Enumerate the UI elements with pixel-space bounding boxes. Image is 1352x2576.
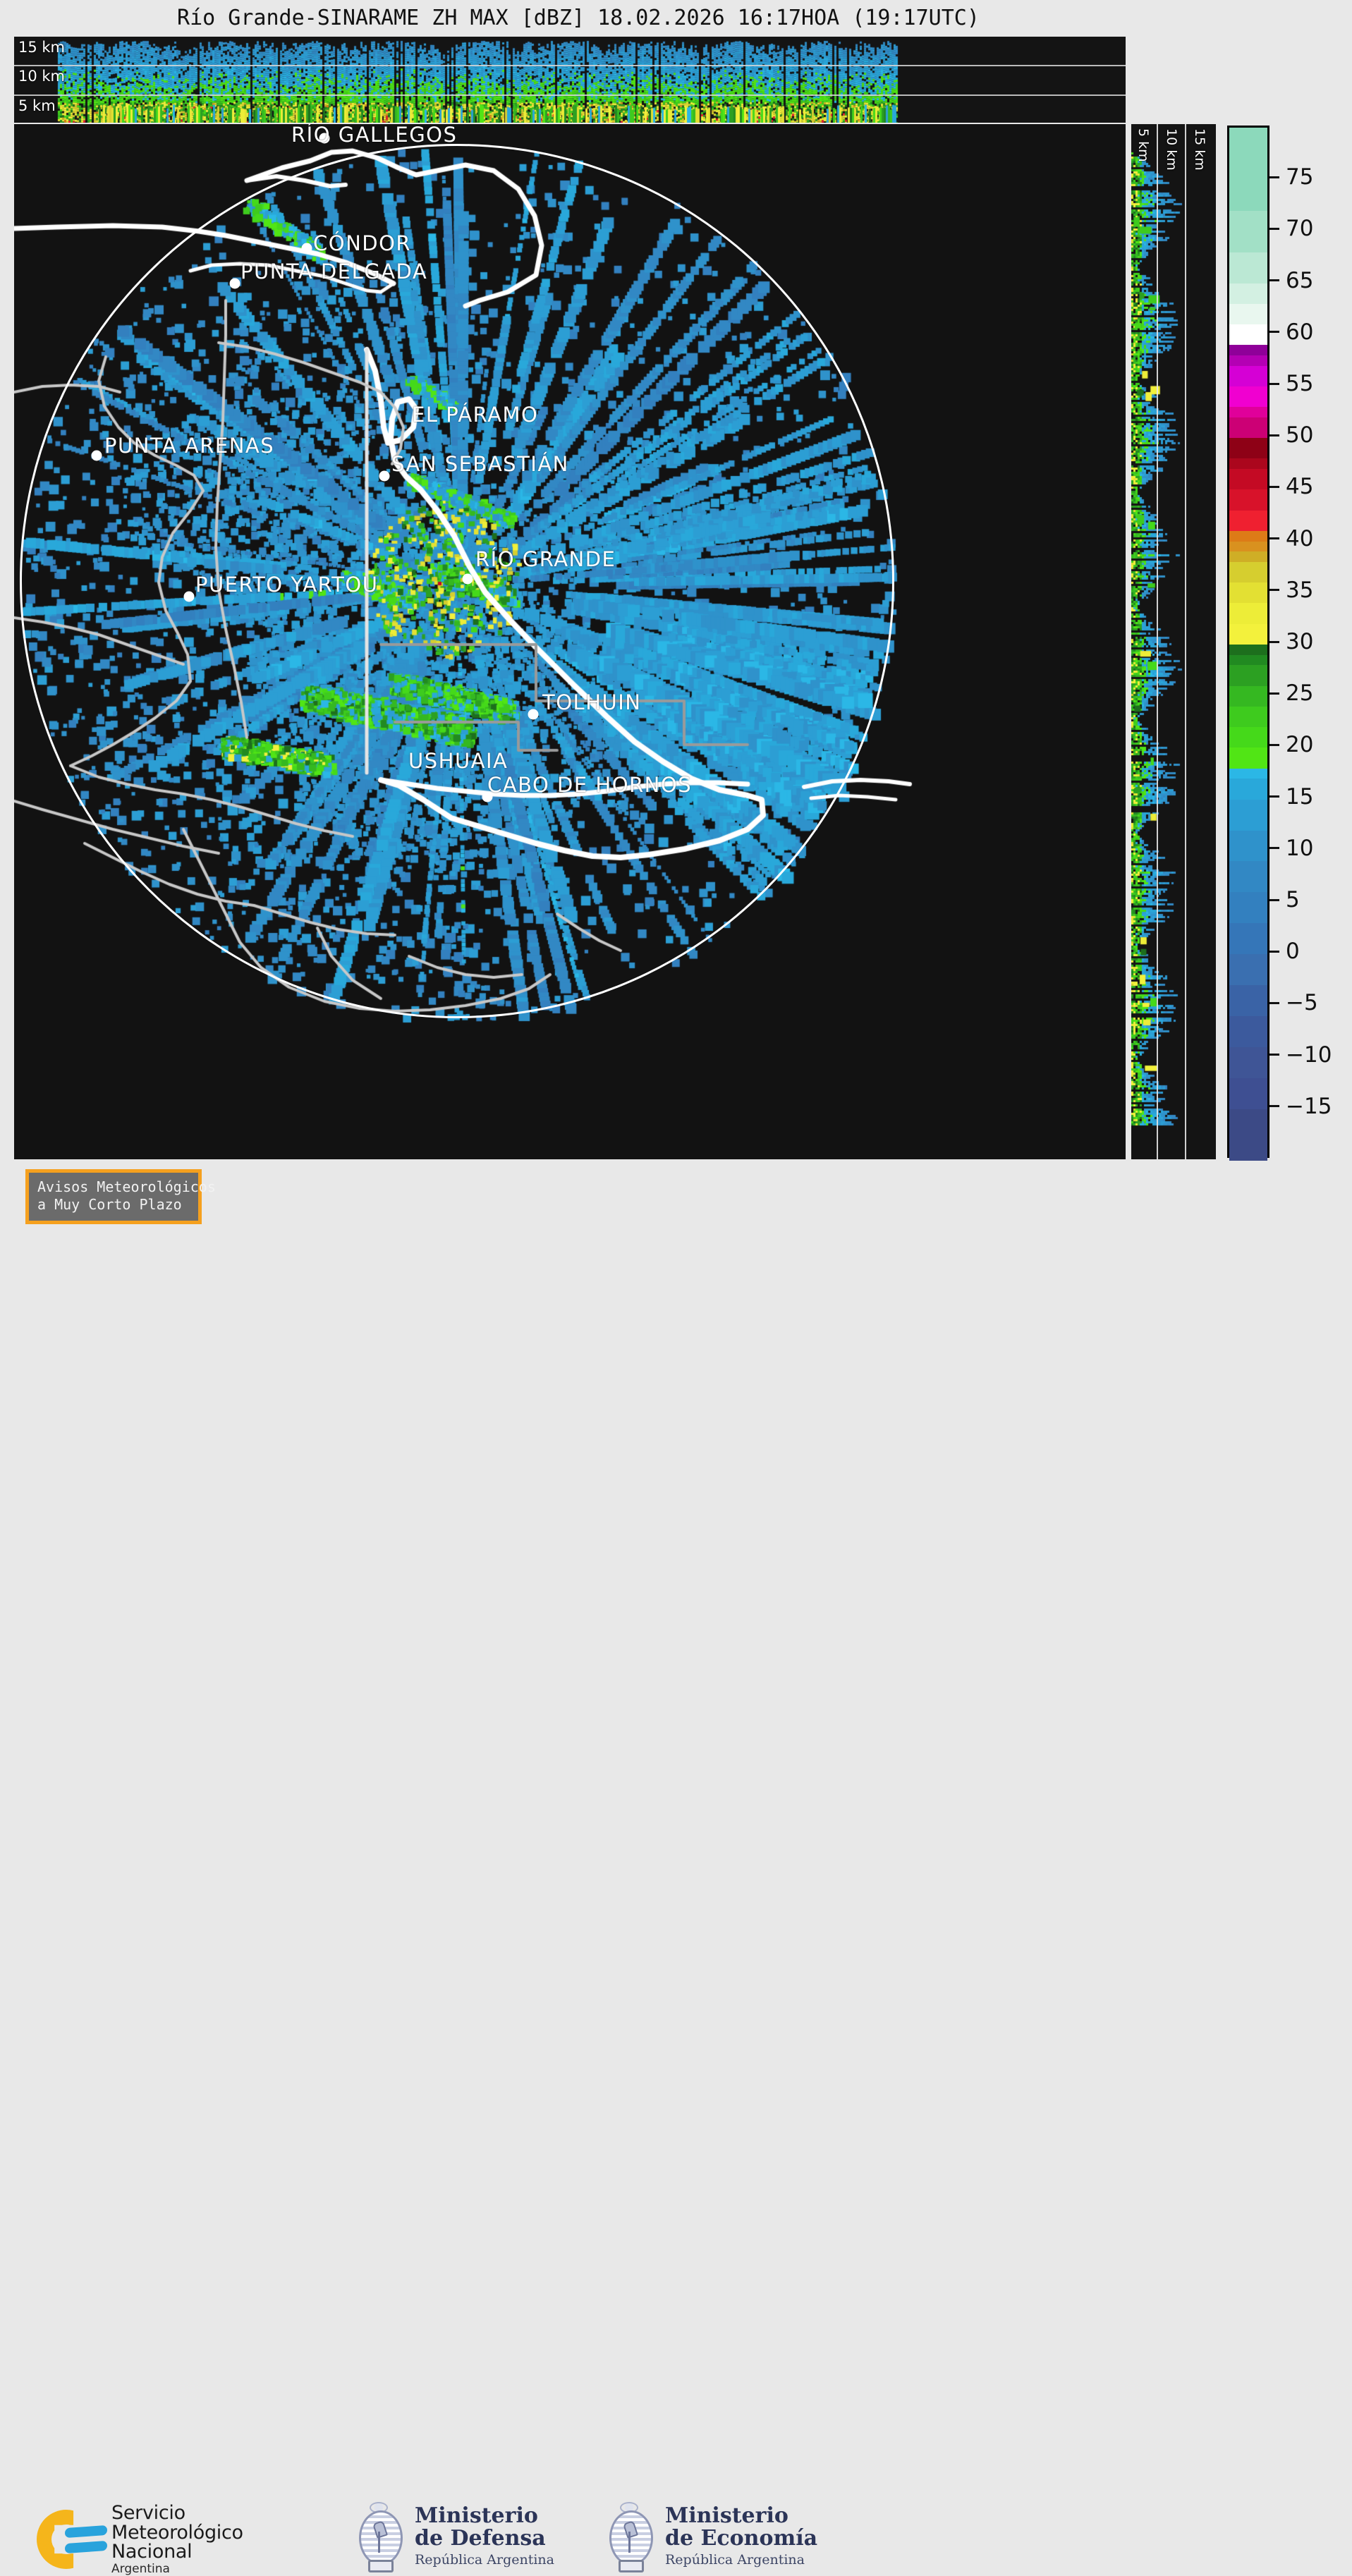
colorbar-segment (1229, 344, 1267, 355)
ministry-economia-wordmark: Ministerio de Economía República Argenti… (665, 2505, 817, 2567)
colorbar-segment (1229, 417, 1267, 438)
top-cross-section-canvas (14, 37, 1126, 123)
colorbar-segment (1229, 706, 1267, 727)
warning-box[interactable]: Avisos Meteorológicos a Muy Corto Plazo (25, 1169, 202, 1224)
crest-pole-icon-2 (628, 2532, 631, 2553)
ministry-economia-logo: Ministerio de Economía República Argenti… (603, 2501, 817, 2571)
colorbar-tick: −10 (1269, 1042, 1332, 1068)
colorbar-tick-label: 55 (1286, 371, 1313, 396)
colorbar-segment (1229, 210, 1267, 252)
city-marker-dot[interactable] (302, 243, 312, 254)
colorbar-tick: 35 (1269, 578, 1313, 603)
colorbar-tick-mark (1269, 692, 1279, 695)
colorbar-tick: 10 (1269, 836, 1313, 861)
colorbar-tick-mark (1269, 537, 1279, 539)
height-label-10km-right: 10 km (1164, 128, 1179, 171)
colorbar-tick-mark (1269, 899, 1279, 901)
colorbar-segment (1229, 1015, 1267, 1047)
colorbar-segment (1229, 530, 1267, 542)
colorbar-segment (1229, 458, 1267, 469)
colorbar-tick: 0 (1269, 939, 1300, 964)
city-marker-dot[interactable] (528, 709, 539, 720)
colorbar-segment (1229, 830, 1267, 862)
colorbar-segment (1229, 541, 1267, 552)
colorbar-tick-label: 25 (1286, 680, 1313, 706)
colorbar-tick-label: 70 (1286, 216, 1313, 241)
city-label: RÍO GRANDE (475, 547, 616, 571)
city-marker-dot[interactable] (230, 279, 240, 289)
ministry-economia-line-2: de Economía (665, 2527, 817, 2550)
smn-line-1: Servicio (111, 2503, 243, 2523)
city-marker-dot[interactable] (184, 592, 195, 602)
colorbar-gradient (1227, 126, 1269, 1158)
city-label: PUNTA ARENAS (104, 434, 274, 458)
ministry-defensa-line-3: República Argentina (415, 2553, 554, 2568)
colorbar-segment (1229, 386, 1267, 407)
city-marker-dot[interactable] (379, 471, 390, 482)
smn-line-2: Meteorológico (111, 2523, 243, 2543)
height-gridline-5km-right (1157, 124, 1158, 1159)
colorbar-segment (1229, 922, 1267, 954)
argentina-crest-icon-2 (603, 2501, 655, 2571)
colorbar-tick-label: 60 (1286, 319, 1313, 345)
colorbar-tick-label: 50 (1286, 422, 1313, 448)
colorbar-segment (1229, 860, 1267, 892)
radar-product-page: Río Grande-SINARAME ZH MAX [dBZ] 18.02.2… (0, 0, 1352, 1346)
crest-pole-icon (378, 2532, 380, 2553)
smn-line-4: Argentina (111, 2563, 243, 2575)
colorbar-tick-label: 65 (1286, 268, 1313, 293)
top-cross-section-panel: 15 km 10 km 5 km (14, 37, 1126, 123)
footer-logos: Servicio Meteorológico Nacional Argentin… (0, 1241, 1352, 1346)
colorbar-tick-label: 0 (1286, 939, 1300, 964)
colorbar-tick-mark (1269, 1054, 1279, 1056)
colorbar-segment (1229, 283, 1267, 304)
colorbar-segment (1229, 1078, 1267, 1109)
colorbar-segment (1229, 891, 1267, 923)
smn-wordmark: Servicio Meteorológico Nacional Argentin… (111, 2503, 243, 2575)
colorbar-segment (1229, 747, 1267, 768)
smn-ring-icon (37, 2510, 96, 2569)
crest-oval-icon-2 (609, 2510, 653, 2565)
city-label: CÓNDOR (313, 231, 411, 255)
city-label: PUNTA DELGADA (240, 260, 427, 283)
ministry-economia-line-3: República Argentina (665, 2553, 817, 2568)
city-label: TOLHUIN (542, 690, 641, 714)
colorbar-tick: 15 (1269, 784, 1313, 810)
colorbar-segment (1229, 437, 1267, 458)
colorbar-segment (1229, 602, 1267, 623)
colorbar-tick-label: 30 (1286, 629, 1313, 654)
colorbar-tick: 25 (1269, 680, 1313, 706)
colorbar (1227, 126, 1269, 1158)
colorbar-tick-mark (1269, 1105, 1279, 1107)
colorbar-segment (1229, 582, 1267, 603)
height-gridline-10km (14, 65, 1126, 66)
city-label: RÍO GALLEGOS (291, 124, 457, 147)
colorbar-tick-label: 40 (1286, 526, 1313, 551)
colorbar-tick: 30 (1269, 629, 1313, 654)
height-label-5km: 5 km (18, 97, 56, 114)
colorbar-segment (1229, 489, 1267, 510)
colorbar-tick-label: 20 (1286, 732, 1313, 757)
smn-wave-icon-1 (65, 2525, 107, 2538)
height-label-15km: 15 km (18, 39, 65, 56)
colorbar-tick: 20 (1269, 732, 1313, 757)
colorbar-tick: 70 (1269, 216, 1313, 241)
colorbar-segment (1229, 406, 1267, 417)
colorbar-segment (1229, 468, 1267, 489)
colorbar-segment (1229, 128, 1267, 211)
colorbar-tick: −15 (1269, 1094, 1332, 1119)
smn-line-3: Nacional (111, 2542, 243, 2562)
warning-line-1: Avisos Meteorológicos (37, 1178, 191, 1196)
city-label: EL PÁRAMO (412, 403, 538, 427)
height-gridline-10km-right (1185, 124, 1186, 1159)
colorbar-ticks: −15−10−5051015202530354045505560657075 (1269, 126, 1347, 1158)
ministry-defensa-line-2: de Defensa (415, 2527, 554, 2550)
ppi-radar-panel[interactable]: RÍO GALLEGOSCÓNDORPUNTA DELGADAEL PÁRAMO… (14, 124, 1126, 1159)
colorbar-segment (1229, 551, 1267, 562)
crest-base-icon (368, 2560, 394, 2572)
colorbar-tick-label: 45 (1286, 474, 1313, 499)
page-title: Río Grande-SINARAME ZH MAX [dBZ] 18.02.2… (0, 6, 1157, 30)
colorbar-tick-mark (1269, 331, 1279, 333)
right-cross-section-panel: 5 km 10 km 15 km (1131, 124, 1216, 1159)
colorbar-tick: 5 (1269, 887, 1300, 912)
colorbar-segment (1229, 355, 1267, 366)
colorbar-segment (1229, 252, 1267, 283)
colorbar-segment (1229, 984, 1267, 1016)
colorbar-tick: 65 (1269, 268, 1313, 293)
colorbar-segment (1229, 664, 1267, 685)
colorbar-segment (1229, 365, 1267, 386)
colorbar-tick: 50 (1269, 422, 1313, 448)
colorbar-segment (1229, 799, 1267, 831)
colorbar-segment (1229, 768, 1267, 779)
colorbar-tick-mark (1269, 589, 1279, 591)
colorbar-tick-mark (1269, 744, 1279, 746)
height-label-5km-right: 5 km (1135, 128, 1151, 162)
colorbar-tick: 60 (1269, 319, 1313, 345)
colorbar-tick-mark (1269, 1002, 1279, 1004)
colorbar-segment (1229, 778, 1267, 799)
colorbar-tick-label: 15 (1286, 784, 1313, 810)
colorbar-tick-mark (1269, 641, 1279, 643)
colorbar-segment (1229, 685, 1267, 707)
colorbar-tick-label: 5 (1286, 887, 1300, 912)
city-label: PUERTO YARTOU (195, 573, 378, 597)
colorbar-tick: 55 (1269, 371, 1313, 396)
colorbar-segment (1229, 726, 1267, 747)
colorbar-segment (1229, 510, 1267, 531)
colorbar-tick-label: −10 (1286, 1042, 1332, 1068)
crest-base-icon-2 (619, 2560, 644, 2572)
height-label-15km-right: 15 km (1192, 128, 1207, 171)
city-marker-dot[interactable] (92, 451, 102, 461)
colorbar-tick: −5 (1269, 990, 1318, 1015)
colorbar-tick-mark (1269, 951, 1279, 953)
colorbar-tick: 40 (1269, 526, 1313, 551)
colorbar-tick-mark (1269, 795, 1279, 798)
argentina-crest-icon (353, 2501, 405, 2571)
ministry-defensa-line-1: Ministerio (415, 2505, 554, 2527)
colorbar-tick-label: 35 (1286, 578, 1313, 603)
smn-mark-icon (37, 2507, 102, 2572)
colorbar-segment (1229, 654, 1267, 666)
colorbar-tick-label: −5 (1286, 990, 1318, 1015)
colorbar-segment (1229, 1109, 1267, 1161)
warning-line-2: a Muy Corto Plazo (37, 1196, 191, 1214)
colorbar-tick-mark (1269, 228, 1279, 230)
ministry-defensa-logo: Ministerio de Defensa República Argentin… (353, 2501, 554, 2571)
colorbar-tick-label: 75 (1286, 164, 1313, 190)
colorbar-tick-mark (1269, 279, 1279, 281)
height-gridline-5km (14, 94, 1126, 96)
smn-wave-icon-2 (65, 2541, 107, 2553)
colorbar-tick-label: 10 (1286, 836, 1313, 861)
range-ring-240km (20, 144, 894, 1018)
ministry-economia-line-1: Ministerio (665, 2505, 817, 2527)
colorbar-segment (1229, 561, 1267, 582)
colorbar-segment (1229, 303, 1267, 324)
colorbar-tick-mark (1269, 434, 1279, 437)
right-cross-section-canvas (1131, 124, 1216, 1159)
colorbar-tick-mark (1269, 383, 1279, 385)
ministry-defensa-wordmark: Ministerio de Defensa República Argentin… (415, 2505, 554, 2567)
colorbar-tick-mark (1269, 486, 1279, 488)
colorbar-tick: 45 (1269, 474, 1313, 499)
city-label: CABO DE HORNOS (487, 773, 692, 797)
colorbar-tick-mark (1269, 847, 1279, 849)
smn-logo: Servicio Meteorológico Nacional Argentin… (37, 2503, 243, 2575)
height-label-10km: 10 km (18, 68, 65, 85)
city-marker-dot[interactable] (463, 574, 473, 585)
colorbar-tick: 75 (1269, 164, 1313, 190)
colorbar-tick-mark (1269, 176, 1279, 178)
crest-oval-icon (359, 2510, 403, 2565)
colorbar-tick-label: −15 (1286, 1094, 1332, 1119)
colorbar-segment (1229, 1046, 1267, 1078)
colorbar-segment (1229, 623, 1267, 645)
colorbar-segment (1229, 324, 1267, 345)
colorbar-segment (1229, 644, 1267, 655)
colorbar-segment (1229, 953, 1267, 985)
city-label: SAN SEBASTIÁN (391, 452, 569, 476)
city-label: USHUAIA (408, 749, 508, 773)
